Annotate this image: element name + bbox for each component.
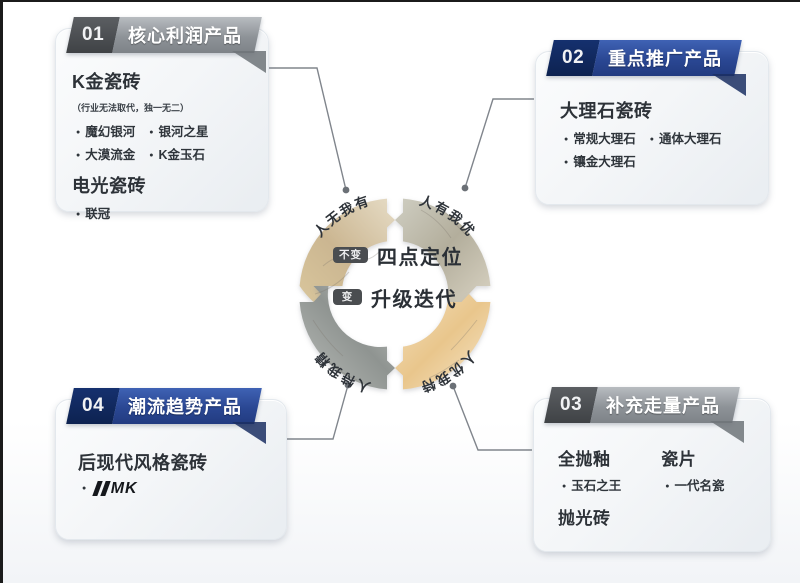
list-item: MK xyxy=(82,480,138,498)
list-item: 大漠流金 xyxy=(76,144,135,163)
donut-center-text: 不变 四点定位 变 升级迭代 xyxy=(333,234,481,318)
list-item: 联冠 xyxy=(76,203,110,222)
mk-logo-text: MK xyxy=(111,480,138,498)
list-item: 常规大理石 xyxy=(564,128,636,147)
card-01[interactable]: 01 核心利润产品 K金瓷砖（行业无法取代，独一无二） 魔幻银河 银河之星 大漠… xyxy=(55,28,269,212)
card-04-number: 04 xyxy=(66,388,120,424)
card-01-group-0-heading: K金瓷砖（行业无法取代，独一无二） xyxy=(72,71,254,116)
center-text-change: 升级迭代 xyxy=(371,283,457,312)
center-row-change: 变 升级迭代 xyxy=(333,283,481,312)
card-02[interactable]: 02 重点推广产品 大理石瓷砖 常规大理石 通体大理石 镶金大理石 xyxy=(535,51,769,205)
card-01-title: 核心利润产品 xyxy=(112,17,262,53)
card-01-group-1-heading: 电光瓷砖 xyxy=(72,175,254,198)
center-text-constant: 四点定位 xyxy=(377,241,463,270)
card-03-group-0-heading: 全抛釉 xyxy=(558,449,635,470)
center-row-constant: 不变 四点定位 xyxy=(333,241,481,270)
list-item: 镶金大理石 xyxy=(564,151,636,170)
card-03-group-0-items: 玉石之王 xyxy=(562,473,635,496)
card-04-ribbon: 04 潮流趋势产品 xyxy=(70,388,258,424)
card-03-group-1-heading: 瓷片 xyxy=(661,449,738,470)
card-03-group-0: 全抛釉 玉石之王 xyxy=(558,449,635,496)
card-02-title: 重点推广产品 xyxy=(592,40,742,76)
card-01-body: K金瓷砖（行业无法取代，独一无二） 魔幻银河 银河之星 大漠流金 K金玉石 电光… xyxy=(56,65,268,224)
list-item: 玉石之王 xyxy=(562,475,621,494)
card-03-body: 全抛釉 玉石之王 瓷片 一代名瓷 抛光砖 xyxy=(534,443,770,530)
card-03-number: 03 xyxy=(544,387,598,423)
card-03-group-1-items: 一代名瓷 xyxy=(665,473,738,496)
diagram-canvas: 人无我有 人有我优 人优我特 人特我精 不变 四点定位 变 升级迭代 01 xyxy=(0,0,800,583)
card-03-group-2-heading: 抛光砖 xyxy=(558,508,756,529)
list-item: 银河之星 xyxy=(149,121,208,140)
card-04-group-0-items: MK xyxy=(82,478,272,500)
list-item: 一代名瓷 xyxy=(665,475,724,494)
card-02-group-0-heading: 大理石瓷砖 xyxy=(560,100,754,123)
card-03-group-1: 瓷片 一代名瓷 xyxy=(661,449,738,496)
card-04[interactable]: 04 潮流趋势产品 后现代风格瓷砖 MK xyxy=(55,399,287,540)
center-chip-constant: 不变 xyxy=(333,247,368,264)
card-03-title: 补充走量产品 xyxy=(590,387,740,423)
card-02-group-0-items: 常规大理石 通体大理石 镶金大理石 xyxy=(564,126,754,172)
card-04-group-0-heading: 后现代风格瓷砖 xyxy=(78,452,272,475)
center-chip-change: 变 xyxy=(333,289,362,306)
card-04-body: 后现代风格瓷砖 MK xyxy=(56,446,286,500)
card-01-number: 01 xyxy=(66,17,120,53)
card-01-group-0-items: 魔幻银河 银河之星 大漠流金 K金玉石 xyxy=(76,119,254,165)
card-02-number: 02 xyxy=(546,40,600,76)
card-01-group-1-items: 联冠 xyxy=(76,201,254,224)
card-01-ribbon: 01 核心利润产品 xyxy=(70,17,258,53)
list-item: 魔幻银河 xyxy=(76,121,135,140)
card-04-ribbon-fold xyxy=(232,422,266,444)
list-item: K金玉石 xyxy=(149,144,205,163)
card-03[interactable]: 03 补充走量产品 全抛釉 玉石之王 瓷片 一代名瓷 xyxy=(533,398,771,552)
card-04-title: 潮流趋势产品 xyxy=(112,388,262,424)
card-03-ribbon-fold xyxy=(710,421,744,443)
card-03-ribbon: 03 补充走量产品 xyxy=(548,387,736,423)
card-02-ribbon-fold xyxy=(712,74,746,96)
card-02-body: 大理石瓷砖 常规大理石 通体大理石 镶金大理石 xyxy=(536,94,768,172)
mk-logo-icon: MK xyxy=(95,480,138,498)
list-item: 通体大理石 xyxy=(650,128,722,147)
card-02-ribbon: 02 重点推广产品 xyxy=(550,40,738,76)
card-01-group-0-note: （行业无法取代，独一无二） xyxy=(72,103,189,113)
